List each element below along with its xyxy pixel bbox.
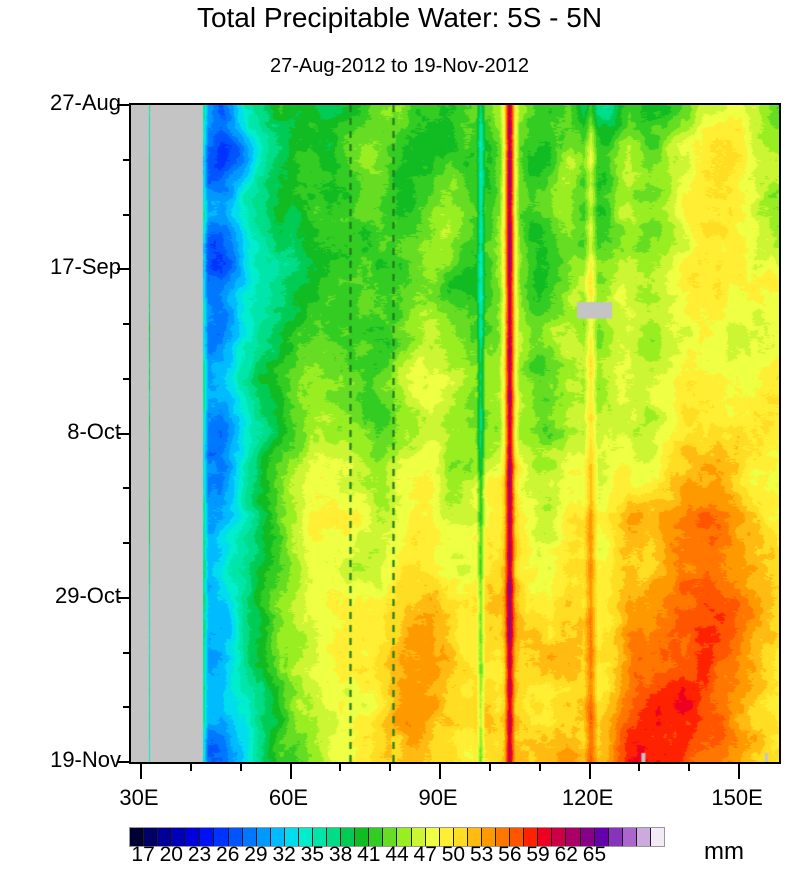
page-subtitle: 27-Aug-2012 to 19-Nov-2012 <box>0 55 799 78</box>
y-tick-label: 27-Aug <box>50 90 121 116</box>
colorbar-cell <box>609 828 623 846</box>
x-tick-major <box>140 762 142 779</box>
hovmoller-plot <box>129 103 781 764</box>
colorbar-tick-label: 23 <box>188 843 211 867</box>
colorbar-tick-label: 62 <box>555 843 578 867</box>
colorbar-cell <box>651 828 664 846</box>
colorbar-tick-label: 26 <box>216 843 239 867</box>
y-tick-minor <box>123 378 131 380</box>
x-tick-major <box>589 762 591 779</box>
y-tick-minor <box>123 214 131 216</box>
colorbar-tick-label: 44 <box>385 843 408 867</box>
colorbar-tick-label: 59 <box>526 843 549 867</box>
colorbar-tick-label: 38 <box>329 843 352 867</box>
x-tick-minor <box>389 762 391 771</box>
x-tick-label: 150E <box>711 785 762 811</box>
colorbar-tick-label: 32 <box>272 843 295 867</box>
x-tick-minor <box>489 762 491 771</box>
x-tick-minor <box>240 762 242 771</box>
x-tick-label: 90E <box>418 785 457 811</box>
colorbar-tick-label: 47 <box>414 843 437 867</box>
x-tick-major <box>439 762 441 779</box>
y-tick-label: 19-Nov <box>50 747 121 773</box>
x-tick-minor <box>339 762 341 771</box>
colorbar-units-label: mm <box>704 838 744 866</box>
colorbar-cell <box>623 828 637 846</box>
colorbar-tick-label: 53 <box>470 843 493 867</box>
y-tick-minor <box>123 542 131 544</box>
y-tick-major <box>117 597 131 599</box>
x-tick-minor <box>190 762 192 771</box>
x-tick-label: 60E <box>269 785 308 811</box>
page-title: Total Precipitable Water: 5S - 5N <box>0 2 799 34</box>
colorbar-tick-label: 17 <box>131 843 154 867</box>
y-tick-major <box>117 433 131 435</box>
colorbar-cell <box>637 828 651 846</box>
x-tick-label: 30E <box>119 785 158 811</box>
x-tick-minor <box>688 762 690 771</box>
colorbar-tick-label: 65 <box>583 843 606 867</box>
x-tick-minor <box>539 762 541 771</box>
y-tick-label: 29-Oct <box>55 583 121 609</box>
x-tick-minor <box>638 762 640 771</box>
y-tick-minor <box>123 487 131 489</box>
y-tick-minor <box>123 652 131 654</box>
y-tick-major <box>117 268 131 270</box>
x-tick-major <box>738 762 740 779</box>
y-tick-minor <box>123 323 131 325</box>
y-tick-minor <box>123 159 131 161</box>
y-tick-major <box>117 761 131 763</box>
colorbar-tick-label: 35 <box>301 843 324 867</box>
colorbar-tick-label: 20 <box>160 843 183 867</box>
colorbar-tick-label: 50 <box>442 843 465 867</box>
y-tick-minor <box>123 706 131 708</box>
colorbar-tick-label: 41 <box>357 843 380 867</box>
heatmap-canvas <box>131 105 779 762</box>
x-tick-major <box>290 762 292 779</box>
y-tick-major <box>117 104 131 106</box>
y-tick-label: 17-Sep <box>50 254 121 280</box>
x-tick-label: 120E <box>562 785 613 811</box>
y-tick-label: 8-Oct <box>67 419 121 445</box>
colorbar-tick-label: 29 <box>244 843 267 867</box>
colorbar-tick-label: 56 <box>498 843 521 867</box>
